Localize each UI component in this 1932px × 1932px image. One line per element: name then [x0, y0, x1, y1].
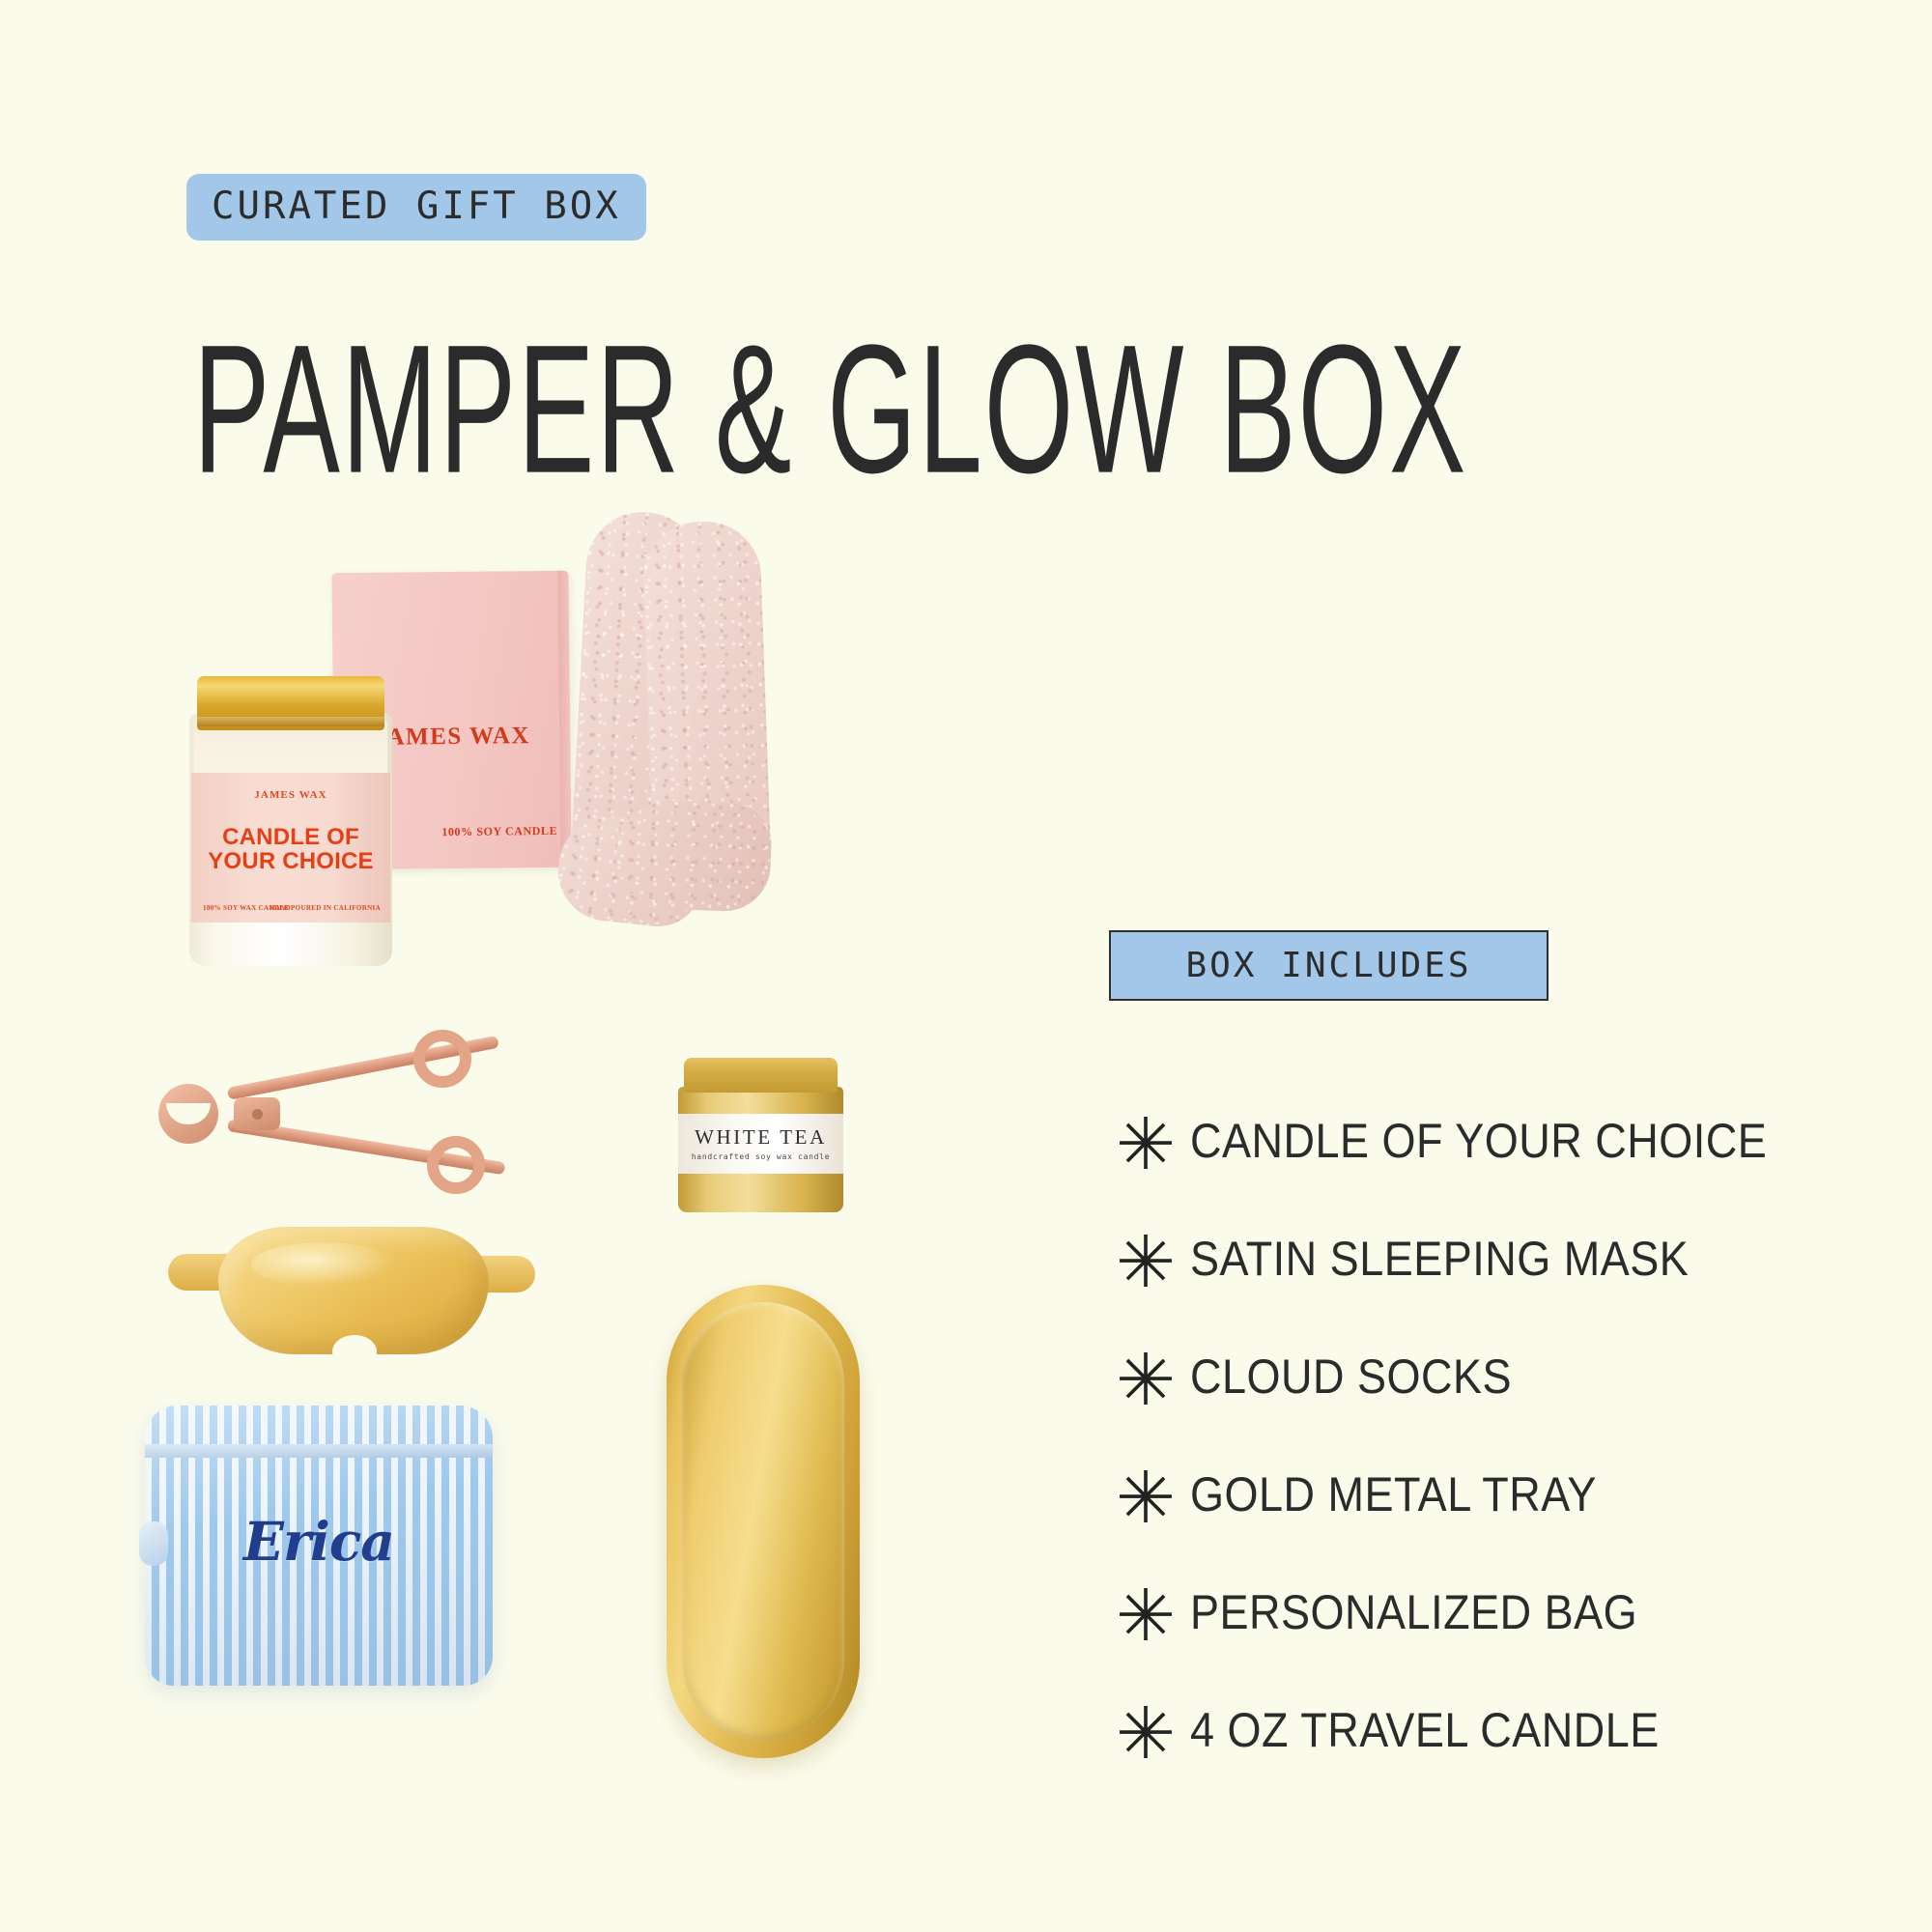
trimmer-ring-lower: [427, 1136, 485, 1194]
box-includes-label: BOX INCLUDES: [1185, 946, 1471, 985]
product-personalized-bag-image: Erica: [145, 1406, 493, 1686]
bag-shading: [145, 1406, 493, 1686]
tin-scent-name: WHITE TEA: [678, 1125, 843, 1150]
sleep-mask-nose-notch: [332, 1335, 377, 1368]
list-item: ✳ SATIN SLEEPING MASK: [1101, 1200, 1874, 1318]
box-includes-list: ✳ CANDLE OF YOUR CHOICE ✳ SATIN SLEEPING…: [1101, 1082, 1874, 1789]
tin-label: WHITE TEA handcrafted soy wax candle: [678, 1114, 843, 1174]
trimmer-pivot: [234, 1097, 280, 1130]
gift-box-product-graphic: CURATED GIFT BOX PAMPER & GLOW BOX JAMES…: [0, 0, 1932, 1932]
bag-zipper-pull: [139, 1521, 168, 1566]
list-item: ✳ CANDLE OF YOUR CHOICE: [1101, 1082, 1874, 1200]
list-item: ✳ PERSONALIZED BAG: [1101, 1553, 1874, 1671]
list-item-label: CANDLE OF YOUR CHOICE: [1190, 1113, 1767, 1169]
product-candle-jar-image: JAMES WAX CANDLE OF YOUR CHOICE 100% SOY…: [189, 676, 392, 966]
jar-label-footer-right: HANDPOURED IN CALIFORNIA: [270, 904, 381, 912]
sleep-mask-sheen: [251, 1242, 396, 1287]
asterisk-bullet-icon: ✳: [1101, 1463, 1190, 1534]
asterisk-bullet-icon: ✳: [1101, 1698, 1190, 1770]
list-item-label: PERSONALIZED BAG: [1190, 1584, 1637, 1640]
asterisk-bullet-icon: ✳: [1101, 1345, 1190, 1416]
jar-label-title-line1: CANDLE OF: [222, 824, 359, 850]
list-item: ✳ GOLD METAL TRAY: [1101, 1435, 1874, 1553]
product-travel-tin-image: WHITE TEA handcrafted soy wax candle: [676, 1058, 845, 1217]
jar-label-brand: JAMES WAX: [191, 789, 390, 801]
product-sleep-mask-image: [162, 1217, 539, 1372]
asterisk-bullet-icon: ✳: [1101, 1109, 1190, 1180]
list-item-label: 4 OZ TRAVEL CANDLE: [1190, 1702, 1660, 1758]
jar-label: JAMES WAX CANDLE OF YOUR CHOICE 100% SOY…: [191, 773, 390, 923]
trimmer-head: [158, 1084, 218, 1144]
list-item: ✳ CLOUD SOCKS: [1101, 1318, 1874, 1435]
list-item-label: CLOUD SOCKS: [1190, 1349, 1512, 1405]
asterisk-bullet-icon: ✳: [1101, 1227, 1190, 1298]
jar-gold-lid: [197, 676, 384, 730]
sock-texture: [614, 799, 773, 913]
box-includes-banner: BOX INCLUDES: [1109, 930, 1548, 1001]
product-wick-trimmer-image: [145, 1022, 551, 1215]
tin-lid: [684, 1058, 838, 1093]
list-item-label: SATIN SLEEPING MASK: [1190, 1231, 1689, 1287]
tin-descriptor: handcrafted soy wax candle: [678, 1152, 843, 1161]
jar-label-title: CANDLE OF YOUR CHOICE: [191, 825, 390, 874]
product-collage: JAMES WAX 100% SOY CANDLE JAMES WAX CAND…: [0, 0, 1082, 1932]
list-item-label: GOLD METAL TRAY: [1190, 1466, 1597, 1522]
product-cloud-socks-image: [541, 512, 792, 1014]
list-item: ✳ 4 OZ TRAVEL CANDLE: [1101, 1671, 1874, 1789]
gold-tray-well: [682, 1302, 844, 1741]
trimmer-ring-upper: [413, 1030, 471, 1088]
asterisk-bullet-icon: ✳: [1101, 1580, 1190, 1652]
jar-label-title-line2: YOUR CHOICE: [208, 848, 374, 874]
sock-right-foot: [614, 799, 773, 913]
product-gold-tray-image: [667, 1285, 860, 1758]
